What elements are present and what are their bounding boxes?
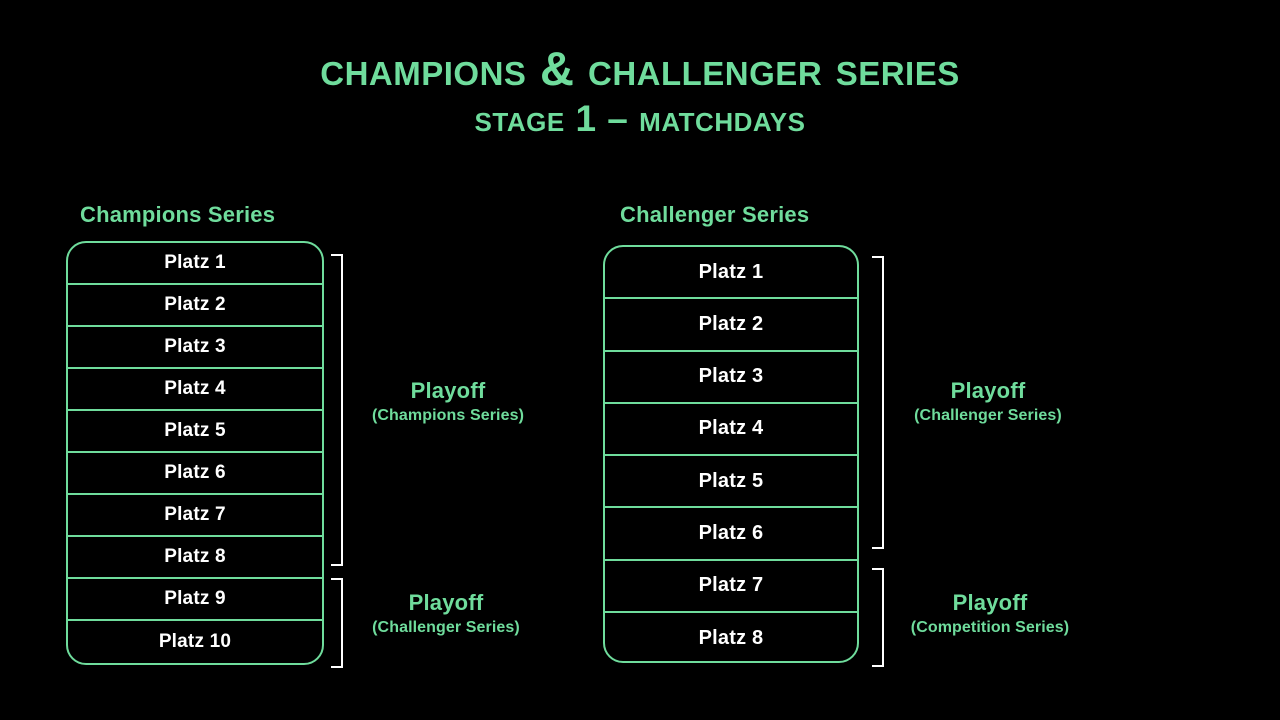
playoff-title: Playoff — [348, 378, 548, 403]
champions-playoff-upper-label: Playoff (Champions Series) — [348, 378, 548, 425]
playoff-subtitle: (Challenger Series) — [346, 618, 546, 637]
table-row: Platz 3 — [605, 352, 857, 404]
table-row: Platz 3 — [68, 327, 322, 369]
challenger-playoff-upper-label: Playoff (Challenger Series) — [888, 378, 1088, 425]
champions-series-heading: Champions Series — [80, 202, 275, 228]
table-row: Platz 7 — [605, 561, 857, 613]
champions-playoff-lower-label: Playoff (Challenger Series) — [346, 590, 546, 637]
table-row: Platz 10 — [68, 621, 322, 663]
table-row: Platz 9 — [68, 579, 322, 621]
table-row: Platz 2 — [605, 299, 857, 351]
table-row: Platz 7 — [68, 495, 322, 537]
page-subtitle: Stage 1 – Matchdays — [0, 98, 1280, 141]
champions-bracket-upper — [331, 254, 343, 566]
page-title: Champions & Challenger Series — [0, 44, 1280, 93]
table-row: Platz 4 — [605, 404, 857, 456]
champions-bracket-lower — [331, 578, 343, 668]
challenger-bracket-upper — [872, 256, 884, 549]
challenger-playoff-lower-label: Playoff (Competition Series) — [886, 590, 1094, 637]
table-row: Platz 1 — [68, 243, 322, 285]
table-row: Platz 8 — [68, 537, 322, 579]
table-row: Platz 6 — [68, 453, 322, 495]
table-row: Platz 2 — [68, 285, 322, 327]
playoff-title: Playoff — [888, 378, 1088, 403]
champions-series-table: Platz 1 Platz 2 Platz 3 Platz 4 Platz 5 … — [66, 241, 324, 665]
table-row: Platz 1 — [605, 247, 857, 299]
challenger-series-table: Platz 1 Platz 2 Platz 3 Platz 4 Platz 5 … — [603, 245, 859, 663]
playoff-subtitle: (Challenger Series) — [888, 406, 1088, 425]
table-row: Platz 6 — [605, 508, 857, 560]
table-row: Platz 5 — [605, 456, 857, 508]
playoff-title: Playoff — [346, 590, 546, 615]
table-row: Platz 4 — [68, 369, 322, 411]
playoff-title: Playoff — [886, 590, 1094, 615]
playoff-subtitle: (Champions Series) — [348, 406, 548, 425]
challenger-bracket-lower — [872, 568, 884, 667]
challenger-series-heading: Challenger Series — [620, 202, 809, 228]
title-block: Champions & Challenger Series Stage 1 – … — [0, 44, 1280, 141]
playoff-subtitle: (Competition Series) — [886, 618, 1094, 637]
table-row: Platz 8 — [605, 613, 857, 663]
table-row: Platz 5 — [68, 411, 322, 453]
